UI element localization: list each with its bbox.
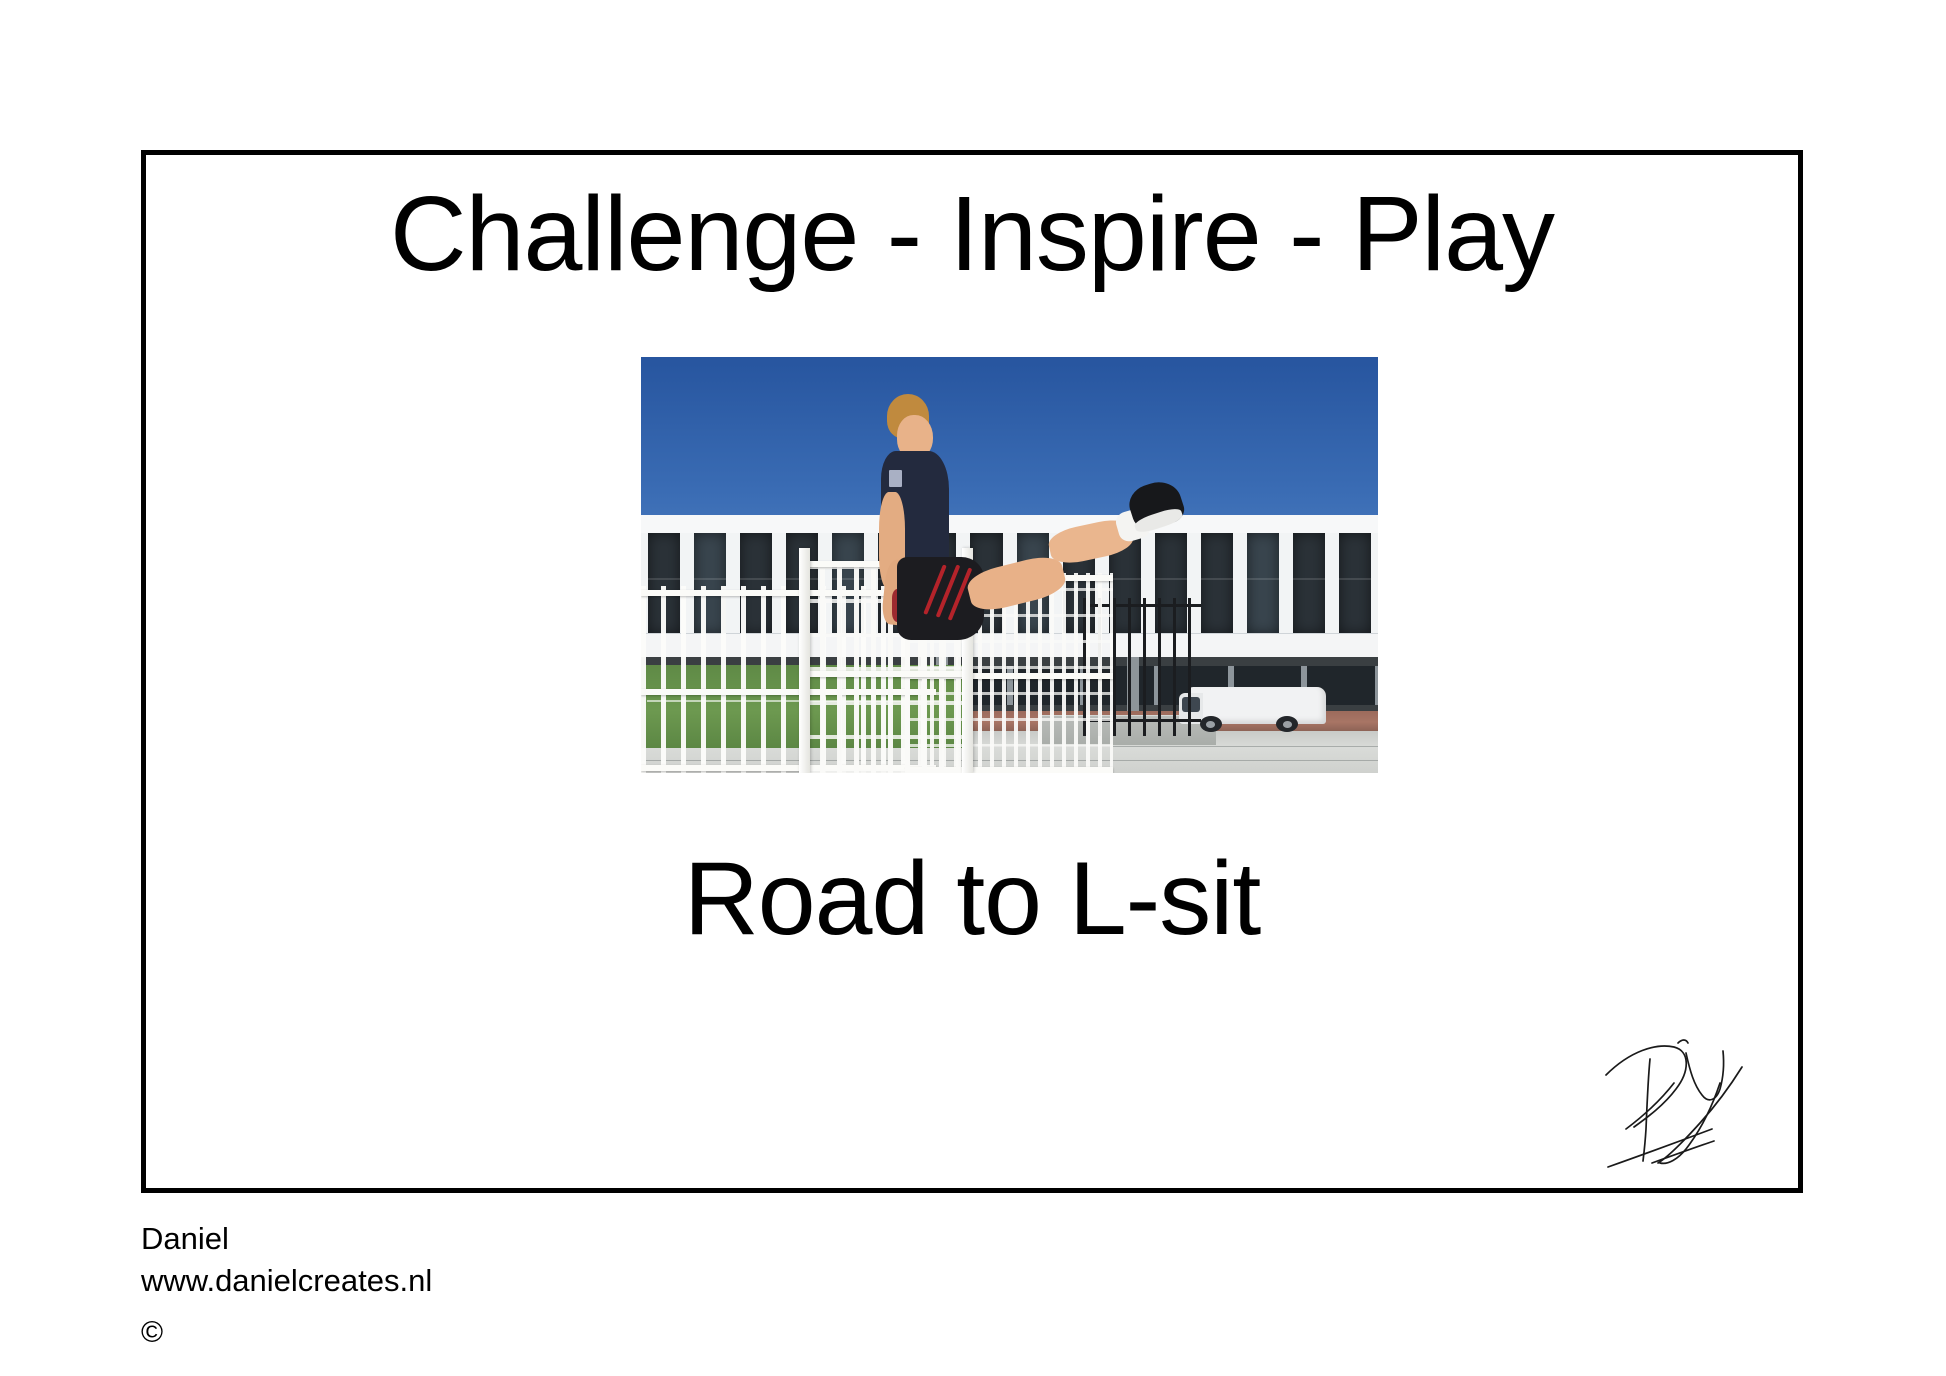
hero-photo (641, 357, 1378, 773)
white-van (1179, 679, 1326, 733)
shirt-logo (889, 470, 902, 488)
slide-frame: Challenge - Inspire - Play (141, 150, 1803, 1193)
fence-post (799, 548, 810, 773)
slide-subtitle: Road to L-sit (146, 845, 1798, 954)
window (1332, 533, 1378, 633)
credit-block: Daniel www.danielcreates.nl (141, 1218, 432, 1301)
author-name: Daniel (141, 1218, 432, 1260)
athlete-thigh (965, 552, 1069, 616)
website-url[interactable]: www.danielcreates.nl (141, 1260, 432, 1302)
page-title: Challenge - Inspire - Play (146, 179, 1798, 290)
window (1240, 533, 1286, 633)
copyright-symbol: © (141, 1318, 163, 1348)
van-wheel (1276, 716, 1298, 732)
window (1286, 533, 1332, 633)
photo-scene (641, 357, 1378, 773)
athlete-l-sit (855, 394, 1179, 689)
van-wheel (1200, 716, 1222, 732)
signature-dy (1590, 1013, 1780, 1178)
